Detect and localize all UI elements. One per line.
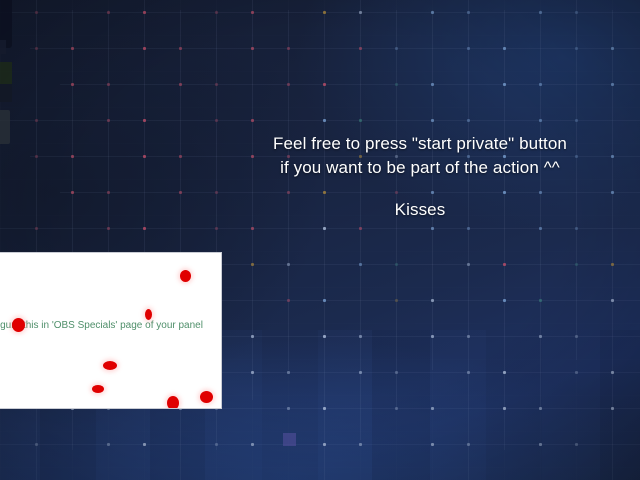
- grid-node-dot: [251, 443, 254, 446]
- grid-node-dot: [359, 443, 362, 446]
- grid-node-dot: [323, 299, 326, 302]
- grid-node-dot: [359, 119, 362, 122]
- grid-node-dot: [71, 155, 74, 158]
- grid-node-dot: [503, 83, 506, 86]
- grid-node-dot: [143, 227, 146, 230]
- message-signature: Kisses: [200, 198, 640, 222]
- grid-node-dot: [467, 443, 470, 446]
- grid-node-dot: [431, 299, 434, 302]
- grid-node-dot: [539, 119, 542, 122]
- message-line-1: Feel free to press "start private" butto…: [200, 132, 640, 156]
- grid-node-dot: [107, 83, 110, 86]
- grid-line-horizontal: [60, 84, 640, 85]
- grid-node-dot: [395, 47, 398, 50]
- grid-node-dot: [431, 11, 434, 14]
- grid-node-dot: [431, 335, 434, 338]
- grid-node-dot: [467, 47, 470, 50]
- grid-node-dot: [575, 119, 578, 122]
- grid-node-dot: [503, 47, 506, 50]
- grid-node-dot: [467, 335, 470, 338]
- grid-node-dot: [251, 119, 254, 122]
- grid-node-dot: [179, 155, 182, 158]
- grid-line-horizontal: [0, 12, 640, 13]
- notice-panel-red-dot: [145, 309, 152, 320]
- grid-line-horizontal: [0, 120, 640, 121]
- grid-node-dot: [431, 227, 434, 230]
- grid-node-dot: [503, 263, 506, 266]
- grid-node-dot: [395, 83, 398, 86]
- grid-node-dot: [395, 299, 398, 302]
- grid-node-dot: [71, 83, 74, 86]
- grid-node-dot: [35, 227, 38, 230]
- notice-panel-red-dot: [12, 318, 25, 332]
- grid-node-dot: [503, 371, 506, 374]
- grid-node-dot: [359, 335, 362, 338]
- grid-node-dot: [251, 371, 254, 374]
- message-spacer: [200, 180, 640, 198]
- grid-node-dot: [215, 119, 218, 122]
- grid-node-dot: [611, 371, 614, 374]
- grid-node-dot: [35, 11, 38, 14]
- grid-node-dot: [503, 407, 506, 410]
- message-line-2: if you want to be part of the action ^^: [200, 156, 640, 180]
- broadcast-message: Feel free to press "start private" butto…: [200, 132, 640, 222]
- grid-node-dot: [179, 83, 182, 86]
- grid-node-dot: [179, 191, 182, 194]
- grid-node-dot: [287, 299, 290, 302]
- grid-node-dot: [539, 227, 542, 230]
- grid-node-dot: [359, 47, 362, 50]
- grid-node-dot: [287, 407, 290, 410]
- grid-node-dot: [323, 119, 326, 122]
- grid-node-dot: [575, 371, 578, 374]
- grid-node-dot: [71, 191, 74, 194]
- grid-node-dot: [323, 227, 326, 230]
- grid-node-dot: [143, 11, 146, 14]
- grid-node-dot: [215, 11, 218, 14]
- grid-node-dot: [323, 83, 326, 86]
- grid-node-dot: [215, 227, 218, 230]
- grid-node-dot: [215, 443, 218, 446]
- grid-node-dot: [323, 335, 326, 338]
- grid-node-dot: [107, 443, 110, 446]
- grid-node-dot: [575, 443, 578, 446]
- grid-node-dot: [143, 443, 146, 446]
- screen-root: Feel free to press "start private" butto…: [0, 0, 640, 480]
- grid-node-dot: [431, 83, 434, 86]
- grid-node-dot: [467, 11, 470, 14]
- grid-node-dot: [575, 263, 578, 266]
- grid-node-dot: [143, 155, 146, 158]
- grid-node-dot: [71, 47, 74, 50]
- notice-panel-red-dot: [92, 385, 104, 393]
- grid-node-dot: [359, 371, 362, 374]
- grid-node-dot: [503, 299, 506, 302]
- notice-panel-red-dot: [180, 270, 191, 282]
- grid-node-dot: [431, 119, 434, 122]
- notice-panel-red-dot: [103, 361, 117, 370]
- grid-node-dot: [35, 47, 38, 50]
- grid-node-dot: [539, 299, 542, 302]
- grid-node-dot: [359, 227, 362, 230]
- grid-node-dot: [575, 335, 578, 338]
- grid-node-dot: [287, 47, 290, 50]
- grid-line-vertical: [504, 10, 505, 450]
- accent-block: [283, 433, 296, 446]
- grid-node-dot: [323, 11, 326, 14]
- notice-panel[interactable]: configure this in 'OBS Specials' page of…: [0, 252, 222, 409]
- grid-node-dot: [431, 443, 434, 446]
- grid-node-dot: [287, 263, 290, 266]
- grid-line-horizontal: [0, 228, 640, 229]
- edge-overlay-shape-dark: [0, 84, 12, 102]
- edge-overlay-shape-green: [0, 62, 12, 84]
- grid-node-dot: [395, 263, 398, 266]
- grid-node-dot: [611, 407, 614, 410]
- grid-node-dot: [251, 11, 254, 14]
- grid-node-dot: [359, 263, 362, 266]
- grid-node-dot: [251, 47, 254, 50]
- grid-node-dot: [539, 11, 542, 14]
- grid-node-dot: [395, 407, 398, 410]
- grid-node-dot: [323, 443, 326, 446]
- grid-node-dot: [287, 83, 290, 86]
- grid-node-dot: [467, 263, 470, 266]
- grid-node-dot: [323, 407, 326, 410]
- grid-node-dot: [611, 47, 614, 50]
- grid-node-dot: [539, 443, 542, 446]
- grid-node-dot: [143, 119, 146, 122]
- grid-node-dot: [539, 83, 542, 86]
- grid-node-dot: [611, 299, 614, 302]
- grid-line-horizontal: [30, 48, 640, 49]
- grid-node-dot: [575, 11, 578, 14]
- grid-node-dot: [359, 11, 362, 14]
- grid-node-dot: [611, 83, 614, 86]
- grid-node-dot: [251, 263, 254, 266]
- grid-node-dot: [575, 47, 578, 50]
- grid-node-dot: [287, 371, 290, 374]
- grid-node-dot: [431, 407, 434, 410]
- notice-panel-text: configure this in 'OBS Specials' page of…: [0, 319, 215, 332]
- grid-node-dot: [35, 443, 38, 446]
- grid-node-dot: [107, 11, 110, 14]
- grid-node-dot: [251, 227, 254, 230]
- grid-node-dot: [107, 227, 110, 230]
- grid-node-dot: [35, 119, 38, 122]
- grid-line-horizontal: [0, 444, 640, 445]
- grid-node-dot: [107, 191, 110, 194]
- grid-node-dot: [539, 407, 542, 410]
- grid-node-dot: [107, 119, 110, 122]
- grid-node-dot: [467, 119, 470, 122]
- grid-node-dot: [251, 335, 254, 338]
- grid-node-dot: [539, 335, 542, 338]
- grid-node-dot: [467, 371, 470, 374]
- grid-node-dot: [179, 47, 182, 50]
- edge-overlay-shape-gray: [0, 110, 10, 144]
- grid-node-dot: [35, 155, 38, 158]
- grid-node-dot: [143, 47, 146, 50]
- grid-node-dot: [611, 263, 614, 266]
- grid-node-dot: [575, 227, 578, 230]
- notice-panel-red-dot: [200, 391, 213, 403]
- grid-node-dot: [467, 227, 470, 230]
- grid-node-dot: [215, 83, 218, 86]
- grid-node-dot: [395, 371, 398, 374]
- edge-overlay-shape-sliver: [0, 40, 6, 54]
- notice-panel-red-dot: [167, 396, 179, 409]
